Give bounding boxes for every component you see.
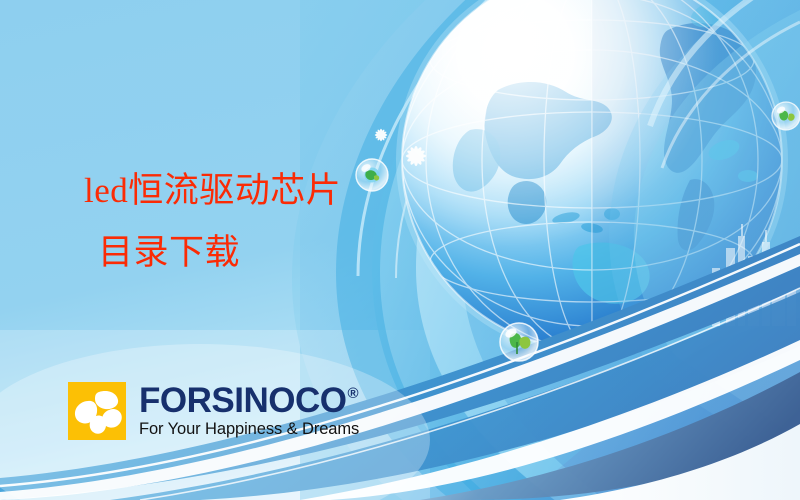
bubble-leaf-icon [500,323,538,361]
logo-text-block: FORSINOCO ® For Your Happiness & Dreams [139,384,359,439]
logo-wordmark: FORSINOCO ® [139,384,359,418]
pinwheel-flower-icon [68,382,126,440]
promo-banner: led恒流驱动芯片 目录下载 FORSINOCO ® For Your Happ… [0,0,800,500]
logo-mark-tile [68,382,126,440]
bubble-globe-icon [356,159,388,191]
logo-wordmark-text: FORSINOCO [139,384,346,418]
company-logo[interactable]: FORSINOCO ® For Your Happiness & Dreams [68,382,359,440]
registered-trademark-icon: ® [347,386,358,401]
logo-tagline: For Your Happiness & Dreams [139,419,359,439]
bubble-small-icon [772,102,800,130]
